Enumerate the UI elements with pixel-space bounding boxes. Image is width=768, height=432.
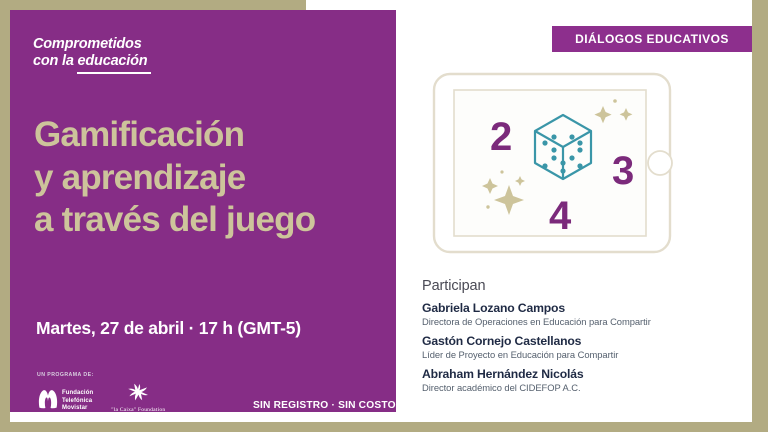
frame-right-rail (752, 0, 768, 422)
speaker-entry: Abraham Hernández Nicolás Director acadé… (422, 367, 752, 393)
series-banner: DIÁLOGOS EDUCATIVOS (552, 26, 752, 52)
frame-left-rail (0, 0, 10, 422)
svg-text:2: 2 (490, 115, 512, 159)
title-line-2: y aprendizaje (34, 157, 384, 200)
caixa-star-icon (127, 383, 149, 406)
frame-top-rail (10, 0, 306, 10)
speaker-entry: Gabriela Lozano Campos Directora de Oper… (422, 301, 752, 327)
purple-content-panel: Comprometidos con la educación Gamificac… (10, 10, 396, 412)
caixa-logo-wordmark: "la Caixa" Foundation (111, 407, 165, 413)
title-line-3: a través del juego (34, 199, 384, 242)
frame-bottom-rail (0, 422, 768, 432)
speaker-role: Líder de Proyecto en Educación para Comp… (422, 349, 752, 360)
svg-text:3: 3 (612, 149, 634, 193)
no-registration-no-cost-note: SIN REGISTRO · SIN COSTO (253, 400, 396, 411)
telefonica-movistar-foundation-logo: Fundación Telefónica Movistar (37, 389, 93, 414)
movistar-m-icon (37, 389, 59, 414)
tablet-dice-illustration: 2 3 4 (432, 72, 694, 254)
speaker-name: Gabriela Lozano Campos (422, 301, 752, 315)
speakers-block: Participan Gabriela Lozano Campos Direct… (422, 278, 752, 393)
event-datetime: Martes, 27 de abril · 17 h (GMT-5) (36, 318, 301, 339)
webinar-promo-poster: Comprometidos con la educación Gamificac… (0, 0, 768, 432)
telefonica-word-1: Fundación (62, 390, 93, 396)
sponsors-block: UN PROGRAMA DE: Fundación Telefónica Mov… (37, 372, 165, 414)
series-banner-label: DIÁLOGOS EDUCATIVOS (575, 32, 729, 46)
telefonica-word-2: Telefónica (62, 398, 92, 404)
title-line-1: Gamificación (34, 114, 384, 157)
speaker-name: Gastón Cornejo Castellanos (422, 334, 752, 348)
speaker-name: Abraham Hernández Nicolás (422, 367, 752, 381)
telefonica-logo-wordmark: Fundación Telefónica Movistar (62, 390, 93, 414)
sponsors-kicker: UN PROGRAMA DE: (37, 372, 165, 378)
telefonica-word-3: Movistar (62, 405, 87, 411)
brand-underline (77, 72, 151, 74)
speaker-role: Directora de Operaciones en Educación pa… (422, 316, 752, 327)
brand-line-2: con la educación (33, 53, 151, 70)
page-title: Gamificación y aprendizaje a través del … (34, 114, 384, 242)
la-caixa-foundation-logo: "la Caixa" Foundation (111, 383, 165, 414)
svg-text:4: 4 (549, 194, 572, 238)
sponsor-logo-row: Fundación Telefónica Movistar "la Caixa"… (37, 383, 165, 414)
speaker-role: Director académico del CIDEFOP A.C. (422, 382, 752, 393)
brand-line-1: Comprometidos (33, 36, 151, 53)
speaker-entry: Gastón Cornejo Castellanos Líder de Proy… (422, 334, 752, 360)
speakers-heading: Participan (422, 278, 752, 294)
brand-lockup: Comprometidos con la educación (33, 36, 151, 74)
